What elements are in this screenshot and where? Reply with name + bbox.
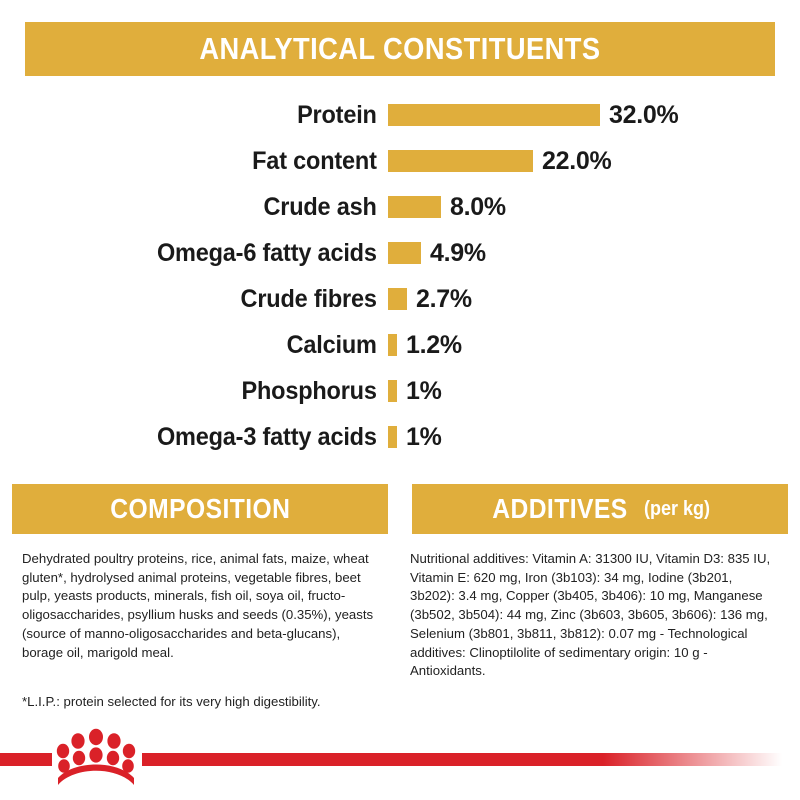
composition-panel: COMPOSITION Dehydrated poultry proteins,… bbox=[0, 484, 400, 712]
chart-row-label: Crude ash bbox=[23, 193, 388, 222]
chart-row: Phosphorus1% bbox=[0, 368, 800, 414]
brand-footer bbox=[0, 720, 800, 800]
chart-bar bbox=[388, 150, 533, 172]
chart-row: Fat content22.0% bbox=[0, 138, 800, 184]
chart-bar bbox=[388, 104, 600, 126]
chart-bar bbox=[388, 196, 441, 218]
chart-value-label: 4.9% bbox=[430, 239, 486, 268]
product-info-panel: ANALYTICAL CONSTITUENTS Protein32.0%Fat … bbox=[0, 0, 800, 800]
royal-canin-crown-logo bbox=[54, 728, 138, 790]
chart-row-track: 32.0% bbox=[388, 101, 800, 130]
chart-row-label: Calcium bbox=[23, 331, 388, 360]
additives-panel: ADDITIVES (per kg) Nutritional additives… bbox=[400, 484, 800, 712]
analytical-constituents-title: ANALYTICAL CONSTITUENTS bbox=[199, 31, 600, 67]
chart-row: Crude ash8.0% bbox=[0, 184, 800, 230]
chart-bar bbox=[388, 380, 397, 402]
chart-row: Omega-3 fatty acids1% bbox=[0, 414, 800, 460]
chart-row: Protein32.0% bbox=[0, 92, 800, 138]
chart-row-track: 2.7% bbox=[388, 285, 800, 314]
chart-value-label: 22.0% bbox=[542, 147, 611, 176]
chart-value-label: 8.0% bbox=[450, 193, 506, 222]
chart-value-label: 1% bbox=[406, 423, 442, 452]
chart-value-label: 1% bbox=[406, 377, 442, 406]
chart-row: Calcium1.2% bbox=[0, 322, 800, 368]
chart-row-label: Crude fibres bbox=[23, 285, 388, 314]
composition-header: COMPOSITION bbox=[12, 484, 388, 534]
chart-row-track: 4.9% bbox=[388, 239, 800, 268]
chart-row: Crude fibres2.7% bbox=[0, 276, 800, 322]
chart-row-track: 1% bbox=[388, 423, 800, 452]
additives-subtitle: (per kg) bbox=[644, 498, 710, 521]
chart-value-label: 2.7% bbox=[416, 285, 472, 314]
chart-row: Omega-6 fatty acids4.9% bbox=[0, 230, 800, 276]
additives-body: Nutritional additives: Vitamin A: 31300 … bbox=[400, 534, 800, 681]
chart-row-label: Omega-3 fatty acids bbox=[23, 423, 388, 452]
chart-row-track: 1% bbox=[388, 377, 800, 406]
footer-rule-left bbox=[0, 753, 52, 766]
footer-rule-right bbox=[142, 753, 782, 766]
chart-value-label: 1.2% bbox=[406, 331, 462, 360]
additives-title: ADDITIVES bbox=[492, 493, 627, 525]
chart-bar bbox=[388, 288, 407, 310]
analytical-constituents-header: ANALYTICAL CONSTITUENTS bbox=[25, 22, 775, 76]
chart-row-track: 22.0% bbox=[388, 147, 800, 176]
chart-row-label: Protein bbox=[23, 101, 388, 130]
composition-body: Dehydrated poultry proteins, rice, anima… bbox=[0, 534, 400, 662]
chart-row-label: Omega-6 fatty acids bbox=[23, 239, 388, 268]
chart-value-label: 32.0% bbox=[609, 101, 678, 130]
composition-title: COMPOSITION bbox=[110, 493, 290, 525]
chart-row-label: Fat content bbox=[23, 147, 388, 176]
composition-note: *L.I.P.: protein selected for its very h… bbox=[0, 677, 400, 712]
chart-bar bbox=[388, 334, 397, 356]
chart-row-label: Phosphorus bbox=[23, 377, 388, 406]
detail-panels: COMPOSITION Dehydrated poultry proteins,… bbox=[0, 484, 800, 712]
additives-header: ADDITIVES (per kg) bbox=[412, 484, 788, 534]
chart-row-track: 8.0% bbox=[388, 193, 800, 222]
chart-row-track: 1.2% bbox=[388, 331, 800, 360]
analytical-constituents-chart: Protein32.0%Fat content22.0%Crude ash8.0… bbox=[0, 92, 800, 460]
chart-bar bbox=[388, 426, 397, 448]
chart-bar bbox=[388, 242, 421, 264]
